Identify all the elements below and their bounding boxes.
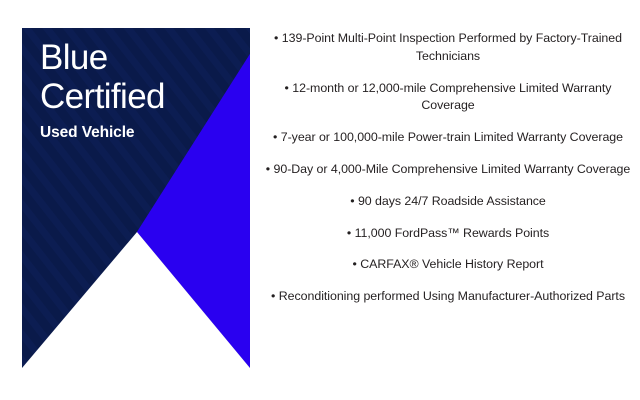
list-item-text: CARFAX® Vehicle History Report (360, 257, 543, 271)
bullet-icon: • (274, 31, 278, 45)
bullet-icon: • (266, 162, 270, 176)
list-item: • 90-Day or 4,000-Mile Comprehensive Lim… (256, 161, 640, 179)
list-item: • 90 days 24/7 Roadside Assistance (256, 193, 640, 211)
bullet-icon: • (353, 257, 357, 271)
bullet-icon: • (285, 81, 289, 95)
badge-title-line-1: Blue (40, 38, 240, 77)
list-item: • CARFAX® Vehicle History Report (256, 256, 640, 274)
feature-benefit-list: • 139-Point Multi-Point Inspection Perfo… (256, 30, 640, 375)
bullet-icon: • (347, 226, 351, 240)
list-item-text: 139-Point Multi-Point Inspection Perform… (282, 31, 622, 63)
list-item-text: Reconditioning performed Using Manufactu… (279, 289, 625, 303)
blue-certified-badge: Blue Certified Used Vehicle (22, 28, 250, 368)
list-item-text: 90 days 24/7 Roadside Assistance (358, 194, 546, 208)
badge-wordmark: Blue Certified Used Vehicle (40, 36, 240, 142)
badge-title-line-2: Certified (40, 77, 240, 116)
list-item: • 7-year or 100,000-mile Power-train Lim… (256, 129, 640, 147)
list-item-text: 7-year or 100,000-mile Power-train Limit… (281, 130, 623, 144)
badge-subtitle: Used Vehicle (40, 123, 240, 142)
list-item: • Reconditioning performed Using Manufac… (256, 288, 640, 306)
bullet-icon: • (350, 194, 354, 208)
list-item: • 11,000 FordPass™ Rewards Points (256, 225, 640, 243)
bullet-icon: • (271, 289, 275, 303)
list-item-text: 12-month or 12,000-mile Comprehensive Li… (292, 81, 611, 113)
list-item-text: 90-Day or 4,000-Mile Comprehensive Limit… (274, 162, 631, 176)
certified-vehicle-banner: Blue Certified Used Vehicle • 139-Point … (0, 0, 640, 400)
list-item-text: 11,000 FordPass™ Rewards Points (355, 226, 550, 240)
list-item: • 12-month or 12,000-mile Comprehensive … (256, 80, 640, 115)
bullet-icon: • (273, 130, 277, 144)
list-item: • 139-Point Multi-Point Inspection Perfo… (256, 30, 640, 65)
